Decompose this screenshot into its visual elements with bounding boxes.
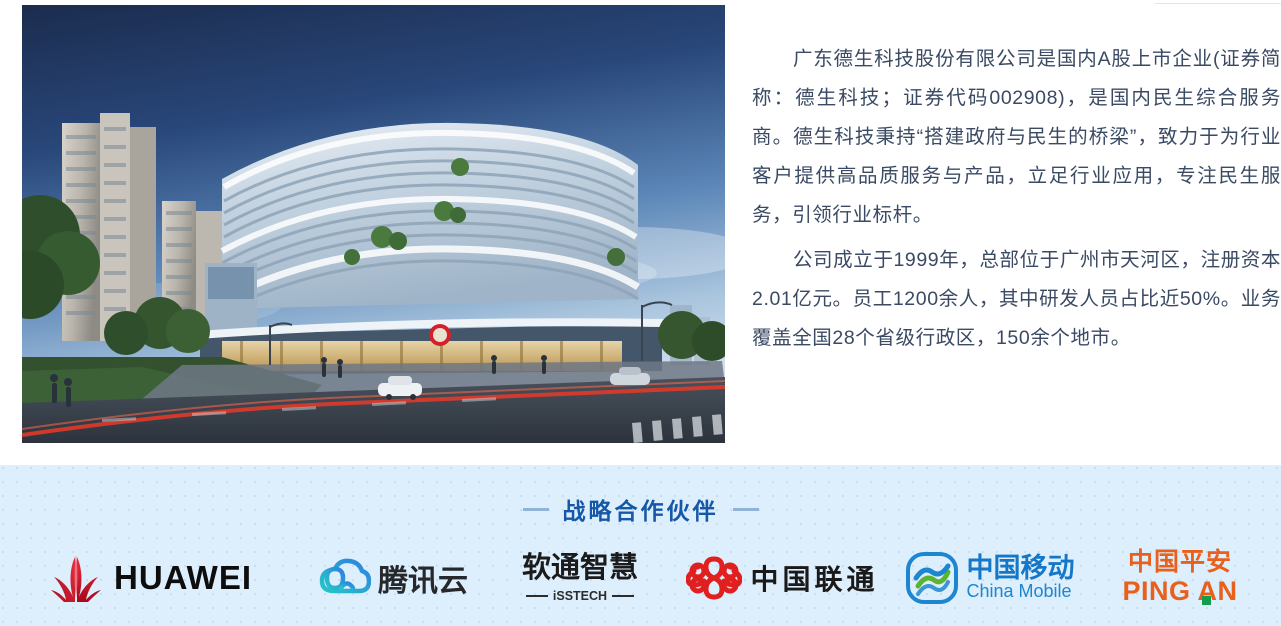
partner-logo-row: HUAWEI 腾讯云 软通智慧 — [0, 537, 1281, 619]
isstech-dash-right-icon — [612, 595, 634, 597]
isstech-subwordmark: iSSTECH — [522, 589, 638, 603]
heading-dash-left-icon — [523, 508, 549, 511]
tencent-cloud-icon — [317, 557, 371, 599]
partner-logo-china-unicom[interactable]: 中国联通 — [675, 537, 890, 619]
corporate-building-image — [22, 5, 725, 443]
building-rendering-graphic — [22, 5, 725, 443]
partner-logo-china-mobile[interactable]: 中国移动 China Mobile — [890, 537, 1090, 619]
ping-an-wordmark-en-text: PING AN — [1122, 576, 1237, 606]
huawei-wordmark: HUAWEI — [114, 559, 252, 597]
partner-logo-isstech[interactable]: 软通智慧 iSSTECH — [485, 537, 675, 619]
strategic-partners-section: 战略合作伙伴 HUAWEI — [0, 465, 1281, 626]
ping-an-accent-icon — [1202, 596, 1211, 605]
partner-logo-tencent-cloud[interactable]: 腾讯云 — [300, 537, 485, 619]
strategic-partners-heading: 战略合作伙伴 — [0, 492, 1281, 526]
top-divider-line — [1155, 3, 1281, 4]
isstech-wordmark-cn: 软通智慧 — [522, 554, 638, 583]
huawei-petal-icon — [48, 553, 104, 603]
partner-logo-ping-an[interactable]: 中国平安 PING AN — [1090, 537, 1270, 619]
isstech-dash-left-icon — [526, 595, 548, 597]
hero-section: 广东德生科技股份有限公司是国内A股上市企业(证券简称：德生科技；证券代码0029… — [0, 0, 1281, 465]
company-description-paragraph-1: 广东德生科技股份有限公司是国内A股上市企业(证券简称：德生科技；证券代码0029… — [752, 40, 1281, 235]
isstech-wordmark-en: iSSTECH — [553, 589, 607, 603]
company-description: 广东德生科技股份有限公司是国内A股上市企业(证券简称：德生科技；证券代码0029… — [752, 40, 1281, 364]
china-unicom-wordmark: 中国联通 — [750, 558, 878, 598]
ping-an-wordmark-en: PING AN — [1122, 576, 1237, 607]
company-description-paragraph-2: 公司成立于1999年，总部位于广州市天河区，注册资本2.01亿元。员工1200余… — [752, 241, 1281, 358]
china-unicom-knot-icon — [686, 553, 742, 603]
china-mobile-wordmark-cn: 中国移动 — [967, 554, 1075, 582]
partner-logo-huawei[interactable]: HUAWEI — [0, 537, 300, 619]
strategic-partners-heading-text: 战略合作伙伴 — [563, 492, 719, 526]
china-mobile-wordmark-en: China Mobile — [967, 582, 1075, 602]
china-mobile-wave-icon — [906, 552, 958, 604]
heading-dash-right-icon — [733, 508, 759, 511]
tencent-cloud-wordmark: 腾讯云 — [378, 556, 468, 600]
ping-an-wordmark-cn: 中国平安 — [1122, 549, 1237, 577]
